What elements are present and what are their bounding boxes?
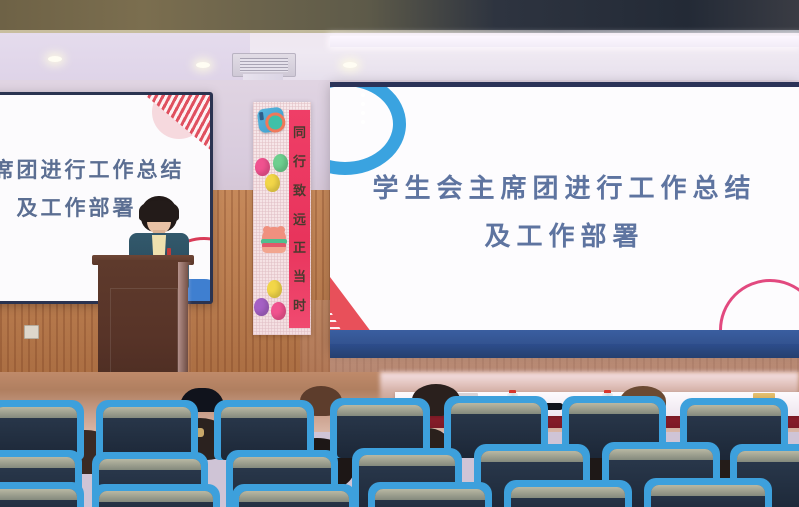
- banner-char-2: 致: [293, 184, 306, 197]
- banner-char-4: 正: [293, 241, 306, 254]
- recessed-downlight: [343, 62, 357, 68]
- banner-char-3: 远: [293, 213, 306, 226]
- recessed-downlight: [196, 62, 210, 68]
- banner-slogan-strip: 同 行 致 远 正 当 时: [289, 110, 310, 328]
- screen-frame-bottom-shadow: [330, 344, 799, 358]
- audience-seat: [96, 400, 198, 460]
- audience-seat: [644, 478, 772, 507]
- banner-char-5: 当: [293, 270, 306, 283]
- podium-panel: [110, 288, 178, 382]
- banner-char-6: 时: [293, 299, 306, 312]
- audience-seat: [92, 484, 220, 507]
- auditorium-photo: 主席团进行工作总结 及工作部署 同 行 致 远 正 当 时: [0, 0, 799, 507]
- ceiling-left-shade: [0, 33, 250, 83]
- right-projection-screen: 学生会主席团进行工作总结 及工作部署: [330, 82, 799, 349]
- light-strip: [330, 36, 799, 47]
- wall-socket: [24, 325, 39, 339]
- blue-arc-decor-icon: [330, 82, 406, 175]
- right-screen-line1: 学生会主席团进行工作总结: [330, 165, 799, 213]
- balloon-yellow-icon: [265, 174, 280, 192]
- banner-char-0: 同: [293, 126, 306, 139]
- balloon-pink-icon: [271, 302, 286, 320]
- balloon-green-icon: [273, 154, 288, 172]
- left-screen-line1: 主席团进行工作总结: [0, 151, 210, 189]
- vertical-slogan-banner: 同 行 致 远 正 当 时: [253, 102, 311, 335]
- balloon-pink-icon: [255, 158, 270, 176]
- balloon-yellow-icon: [267, 280, 282, 298]
- audience-seat: [0, 482, 84, 507]
- ceiling-dark-panel: [0, 0, 799, 34]
- camera-sticker-icon: [257, 107, 286, 134]
- banner-char-1: 行: [293, 155, 306, 168]
- recessed-downlight: [48, 56, 62, 62]
- bear-burger-sticker-icon: [261, 227, 287, 253]
- audience-seat: [368, 482, 492, 507]
- right-screen-line2: 及工作部署: [330, 213, 799, 261]
- balloon-purple-icon: [254, 298, 269, 316]
- audience-seat: [232, 484, 356, 507]
- audience-seat: [504, 480, 632, 507]
- podium-side-light: [178, 262, 192, 382]
